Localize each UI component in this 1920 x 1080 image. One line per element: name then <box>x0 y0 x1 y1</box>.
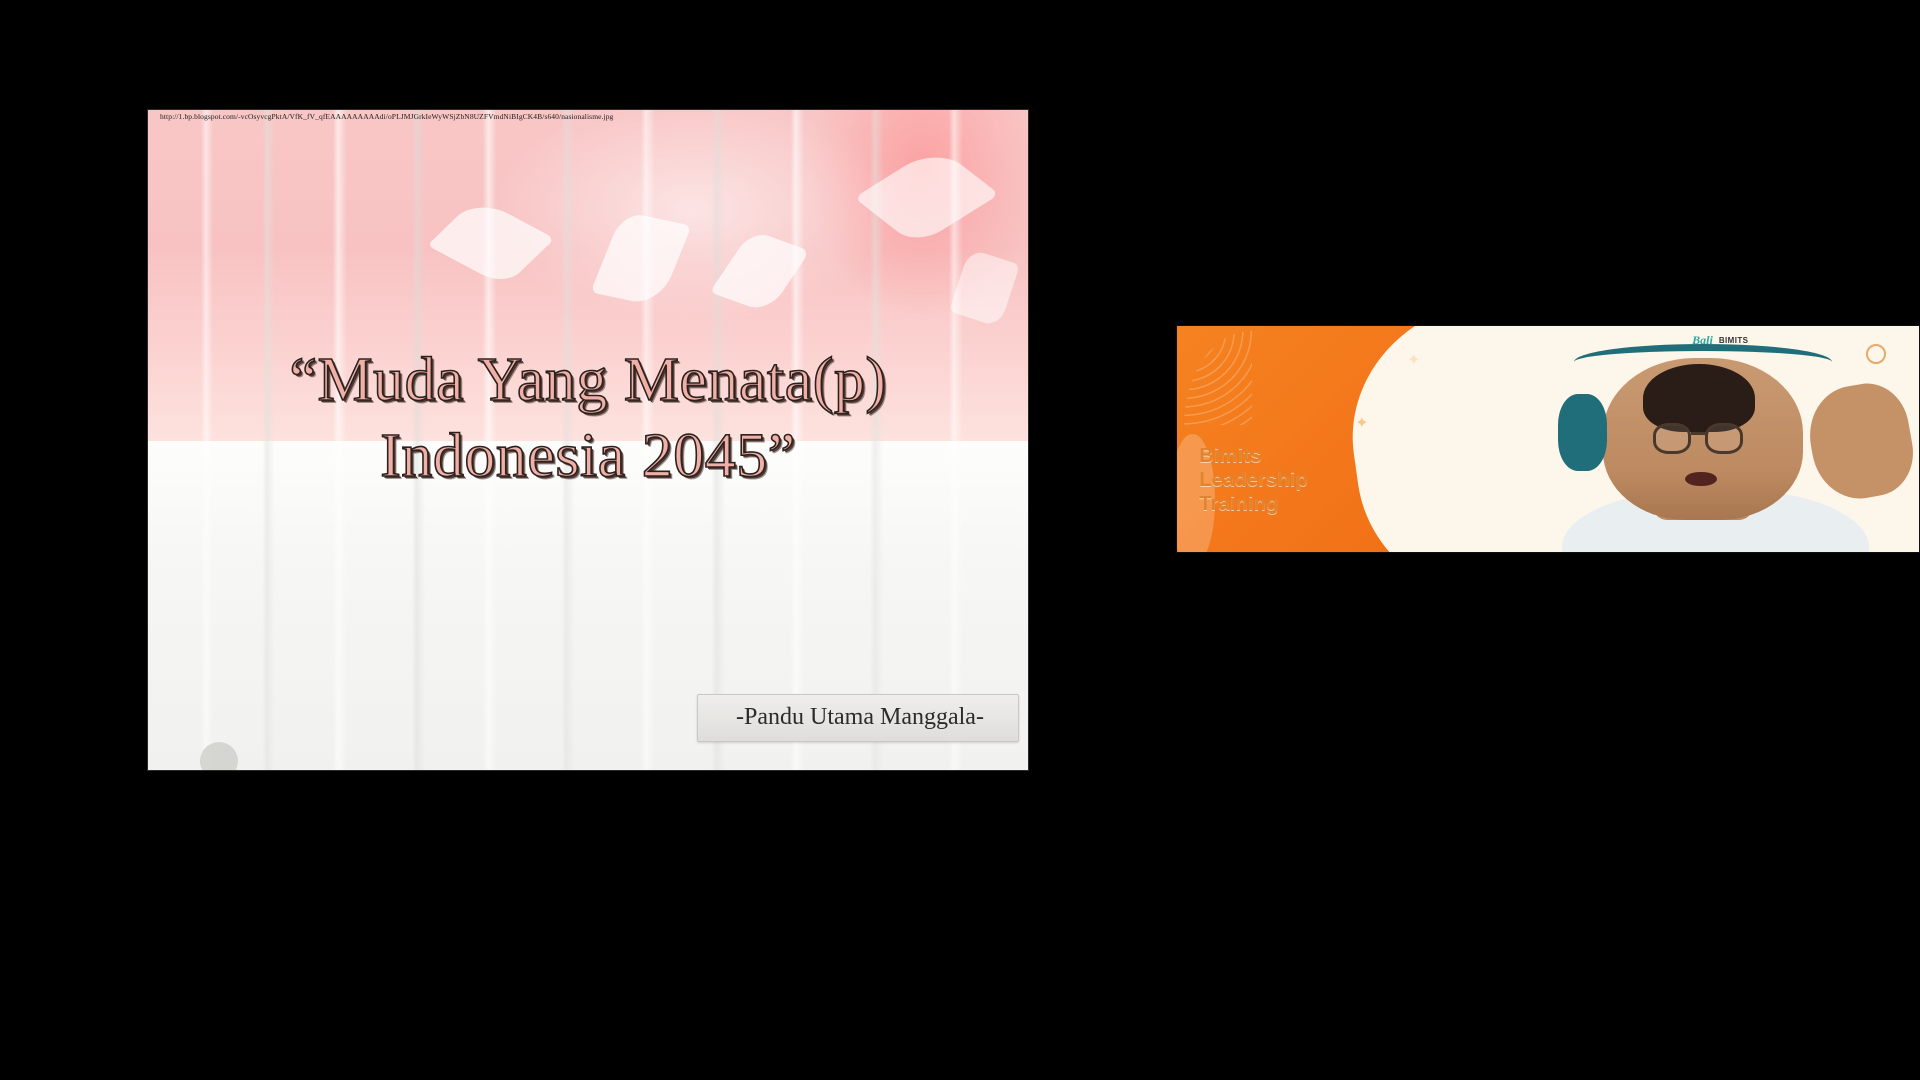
headphone-band-icon <box>1574 344 1832 380</box>
decorative-arc-lines <box>1184 331 1252 426</box>
participant-hand <box>1802 377 1919 506</box>
caption-line-2: Leadership <box>1199 468 1308 492</box>
sparkle-icon: ✦ <box>1355 416 1368 432</box>
image-source-url: http://1.bp.blogspot.com/-vcOsyvcgPktA/V… <box>148 110 1028 124</box>
caption-line-1: Bimits <box>1199 444 1308 468</box>
screen-root: http://1.bp.blogspot.com/-vcOsyvcgPktA/V… <box>0 0 1920 1080</box>
participant-mouth <box>1685 472 1717 487</box>
eyeglasses-right-lens-icon <box>1705 423 1743 454</box>
slide-title: “Muda Yang Menata(p) Indonesia 2045” <box>148 342 1028 494</box>
slide-title-line-1: “Muda Yang Menata(p) <box>148 342 1028 418</box>
virtual-background-caption: Bimits Leadership Training <box>1199 444 1308 516</box>
caption-line-3: Training <box>1199 492 1308 516</box>
participant-video-tile[interactable]: ✦ ✦ Bali BIMITS Bimits Leadership Traini… <box>1176 325 1920 553</box>
eyeglasses-left-lens-icon <box>1653 423 1691 454</box>
participant-head <box>1603 358 1802 521</box>
eyeglasses-bridge-icon <box>1691 432 1707 435</box>
sparkle-icon: ✦ <box>1407 353 1420 369</box>
participant-avatar <box>1503 326 1919 552</box>
headphone-left-cup-icon <box>1558 394 1608 471</box>
slide-attribution: -Pandu Utama Manggala- <box>697 694 1019 742</box>
slide-title-line-2: Indonesia 2045” <box>148 418 1028 494</box>
shared-presentation-slide[interactable]: http://1.bp.blogspot.com/-vcOsyvcgPktA/V… <box>148 110 1028 770</box>
